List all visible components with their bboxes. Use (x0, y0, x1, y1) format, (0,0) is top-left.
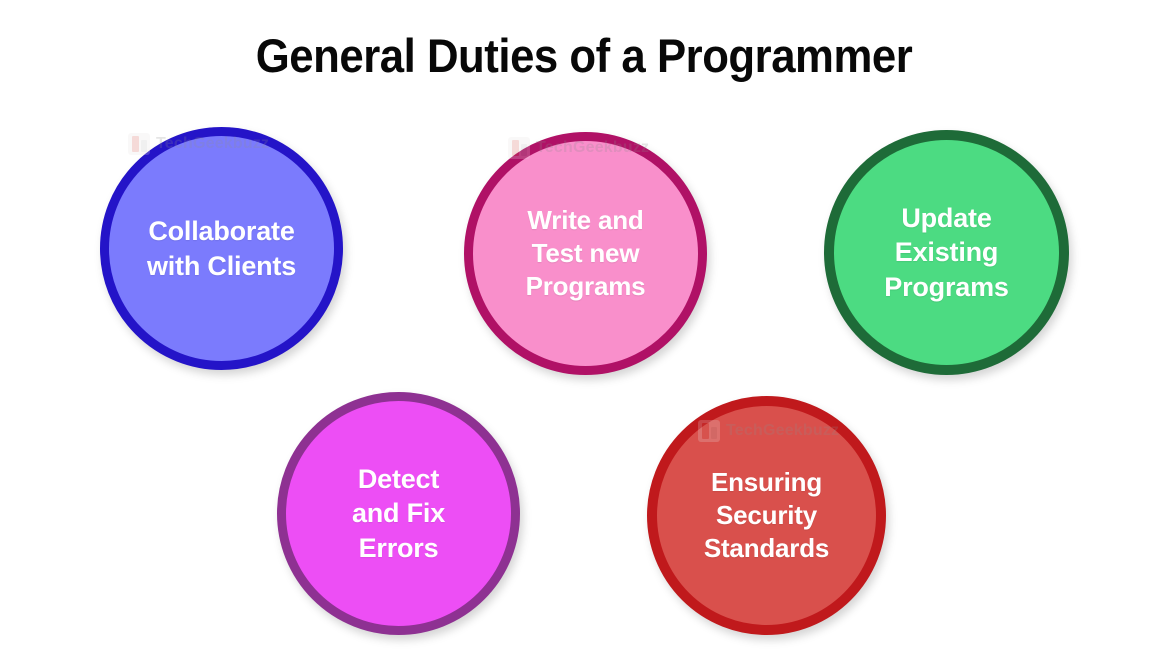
page-title: General Duties of a Programmer (41, 28, 1127, 83)
circle-node-label: Detect and Fix Errors (344, 462, 453, 566)
circle-node-label: Ensuring Security Standards (696, 466, 837, 566)
circle-node-label: Collaborate with Clients (139, 214, 304, 283)
circle-node-update-existing-programs[interactable]: Update Existing Programs (824, 130, 1069, 375)
circle-node-label: Update Existing Programs (876, 201, 1016, 305)
infographic-canvas: General Duties of a Programmer Collabora… (0, 0, 1168, 668)
circle-node-ensuring-security-standards[interactable]: Ensuring Security Standards (647, 396, 886, 635)
circle-node-write-and-test-new-programs[interactable]: Write and Test new Programs (464, 132, 707, 375)
circle-node-detect-and-fix-errors[interactable]: Detect and Fix Errors (277, 392, 520, 635)
circle-node-collaborate-with-clients[interactable]: Collaborate with Clients (100, 127, 343, 370)
circle-node-label: Write and Test new Programs (518, 204, 654, 304)
